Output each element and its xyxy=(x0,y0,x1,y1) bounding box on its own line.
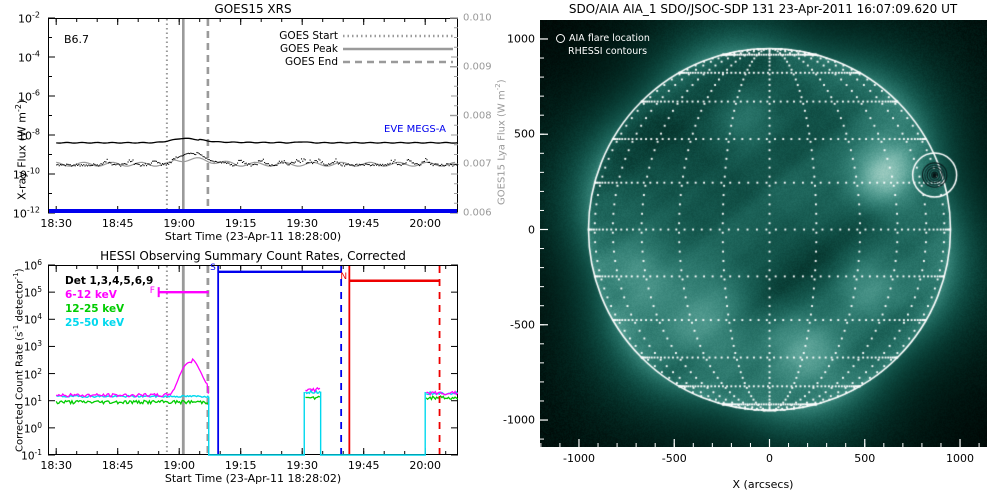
aia-xtick-label: 1000 xyxy=(946,452,974,465)
hessi-ytick-label: 10-1 xyxy=(21,448,42,463)
hessi-xtick-label: 18:45 xyxy=(102,459,134,472)
hessi-marker-n: N xyxy=(340,272,347,282)
hessi-ytick-label: 102 xyxy=(24,366,42,381)
goes-ytick-label: 10-8 xyxy=(18,128,40,143)
goes-xtick-label: 18:45 xyxy=(102,217,134,230)
goes-ytick-label: 10-2 xyxy=(18,11,40,26)
hessi-marker-s: S xyxy=(210,263,216,273)
aia-ytick-label: 1000 xyxy=(507,32,535,45)
goes-ytick-label: 10-4 xyxy=(18,50,40,65)
aia-ytick-label: -1000 xyxy=(503,414,535,427)
goes-xtick-label: 19:15 xyxy=(225,217,257,230)
hessi-legend-label-1: 6-12 keV xyxy=(65,289,117,301)
goes-y2tick-label: 0.009 xyxy=(463,61,492,72)
goes-ytick-label: 10-10 xyxy=(13,167,40,182)
hessi-ytick-label: 103 xyxy=(24,339,42,354)
hessi-xtick-label: 18:30 xyxy=(40,459,72,472)
aia-axes-overlay xyxy=(0,0,1000,500)
aia-ytick-label: 500 xyxy=(514,128,535,141)
goes-y2tick-label: 0.007 xyxy=(463,159,492,170)
aia-axes xyxy=(540,39,979,447)
goes-xtick-label: 19:00 xyxy=(163,217,195,230)
goes-legend-label-1: GOES Peak xyxy=(280,43,338,55)
goes-xtick-label: 20:00 xyxy=(409,217,441,230)
aia-xtick-label: -500 xyxy=(662,452,687,465)
hessi-ytick-label: 101 xyxy=(24,393,42,408)
aia-xtick-label: 500 xyxy=(854,452,875,465)
goes-legend-label-2: GOES End xyxy=(285,56,338,68)
aia-xtick-label: 0 xyxy=(766,452,773,465)
hessi-ytick-label: 100 xyxy=(24,421,42,436)
goes-xtick-label: 18:30 xyxy=(40,217,72,230)
hessi-marker-f: F xyxy=(150,286,155,296)
aia-ytick-label: -500 xyxy=(510,318,535,331)
aia-xtick-label: -1000 xyxy=(563,452,595,465)
hessi-xtick-label: 19:00 xyxy=(163,459,195,472)
hessi-xtick-label: 19:30 xyxy=(286,459,318,472)
goes-ytick-label: 10-12 xyxy=(13,206,40,221)
goes-y2tick-label: 0.006 xyxy=(463,208,492,219)
hessi-legend-label-3: 25-50 keV xyxy=(65,317,124,329)
hessi-xtick-label: 19:15 xyxy=(225,459,257,472)
goes-legend-label-0: GOES Start xyxy=(279,30,338,42)
goes-xtick-label: 19:45 xyxy=(348,217,380,230)
goes-xtick-label: 19:30 xyxy=(286,217,318,230)
hessi-ytick-label: 105 xyxy=(24,285,42,300)
figure-root: GOES15 XRS B6.7 EVE MEGS-A X-ray Flux (W… xyxy=(0,0,1000,500)
aia-ytick-label: 0 xyxy=(528,223,535,236)
hessi-legend-label-0: Det 1,3,4,5,6,9 xyxy=(65,275,153,287)
hessi-ytick-label: 106 xyxy=(24,258,42,273)
goes-y2tick-label: 0.008 xyxy=(463,110,492,121)
hessi-ytick-label: 104 xyxy=(24,312,42,327)
hessi-xtick-label: 19:45 xyxy=(348,459,380,472)
goes-y2tick-label: 0.010 xyxy=(463,13,492,24)
hessi-legend-label-2: 12-25 keV xyxy=(65,303,124,315)
goes-ytick-label: 10-6 xyxy=(18,89,40,104)
hessi-xtick-label: 20:00 xyxy=(409,459,441,472)
